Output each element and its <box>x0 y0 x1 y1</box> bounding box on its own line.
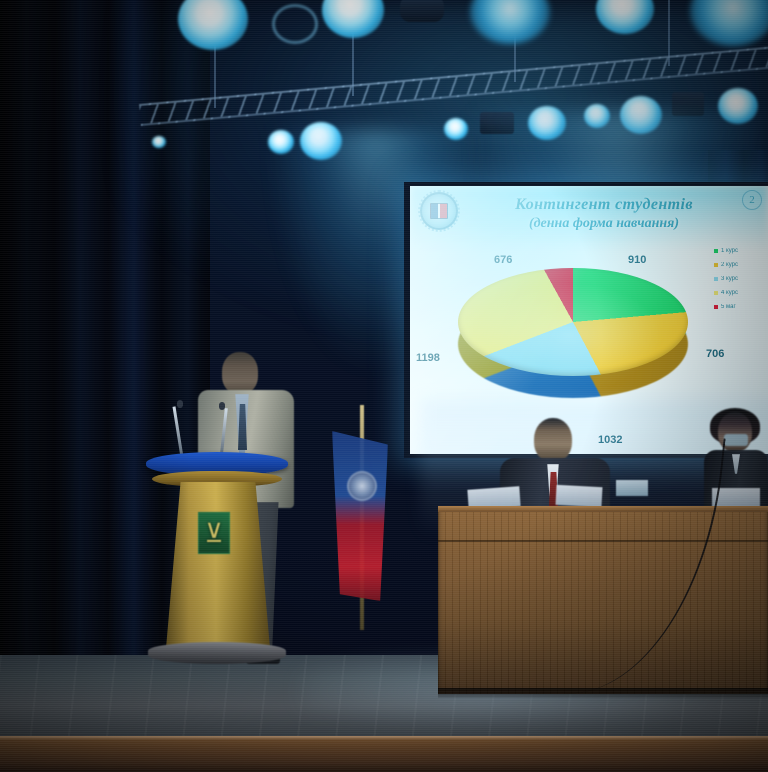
pie-label-1-kurs: 910 <box>628 254 646 266</box>
ukrainian-tryzub-icon: ⊻ <box>198 512 230 554</box>
presenter-head <box>222 352 258 394</box>
flag-emblem-icon <box>347 471 377 501</box>
legend-label: 4 курс <box>721 290 738 296</box>
truss-fixture-icon <box>480 112 514 134</box>
chart-legend: 1 курс 2 курс 3 курс 4 курс 5 маг <box>714 248 760 318</box>
moving-head-fixture-icon <box>400 0 444 22</box>
seated-man-head <box>534 418 572 462</box>
document-sheet <box>616 480 648 496</box>
truss-drop-wire <box>668 0 670 66</box>
legend-swatch-icon <box>714 249 718 253</box>
legend-item-2-kurs: 2 курс <box>714 262 760 268</box>
pie-chart <box>458 268 688 398</box>
legend-label: 1 курс <box>721 248 738 254</box>
pie-chart-surface <box>458 268 688 376</box>
pie-label-2-kurs: 706 <box>706 348 724 360</box>
legend-label: 2 курс <box>721 262 738 268</box>
document-sheet <box>556 485 603 507</box>
truss-fixture-icon <box>672 92 704 116</box>
presidium-table-shadow <box>438 688 768 698</box>
open-book-icon <box>430 203 448 219</box>
pie-label-4-kurs: 1198 <box>416 352 440 364</box>
truss-drop-wire <box>352 0 354 96</box>
legend-swatch-icon <box>714 305 718 309</box>
flag-cloth <box>332 431 388 601</box>
legend-swatch-icon <box>714 277 718 281</box>
presidium-table <box>438 506 768 694</box>
legend-label: 5 маг <box>721 304 736 310</box>
lamp-ring-icon <box>272 4 318 44</box>
slide-number-badge: 2 <box>742 190 762 210</box>
slide-title: Контингент студентів <box>470 196 738 214</box>
legend-item-5-mag: 5 маг <box>714 304 760 310</box>
legend-item-4-kurs: 4 курс <box>714 290 760 296</box>
microphone-head-icon <box>177 400 183 408</box>
presidium-table-edge <box>438 506 768 512</box>
university-emblem-icon <box>420 192 458 230</box>
legend-swatch-icon <box>714 263 718 267</box>
truss-drop-wire <box>514 0 516 82</box>
seated-woman-head <box>718 412 752 452</box>
speaker-podium: ⊻ <box>146 452 288 672</box>
presidium-table-groove <box>438 540 768 542</box>
legend-item-3-kurs: 3 курс <box>714 276 760 282</box>
stage-apron <box>0 736 768 772</box>
legend-item-1-kurs: 1 курс <box>714 248 760 254</box>
pie-label-5-mag: 676 <box>494 254 512 266</box>
conference-hall-photo: Контингент студентів (денна форма навчан… <box>0 0 768 772</box>
podium-body <box>166 482 270 648</box>
microphone-head-icon <box>219 402 225 410</box>
legend-swatch-icon <box>714 291 718 295</box>
institutional-flag <box>330 405 392 630</box>
document-sheet <box>712 488 760 508</box>
podium-base <box>148 642 286 664</box>
face-mask-icon <box>724 434 748 446</box>
slide-subtitle: (денна форма навчання) <box>470 216 738 232</box>
legend-label: 3 курс <box>721 276 738 282</box>
truss-drop-wire <box>214 0 216 108</box>
